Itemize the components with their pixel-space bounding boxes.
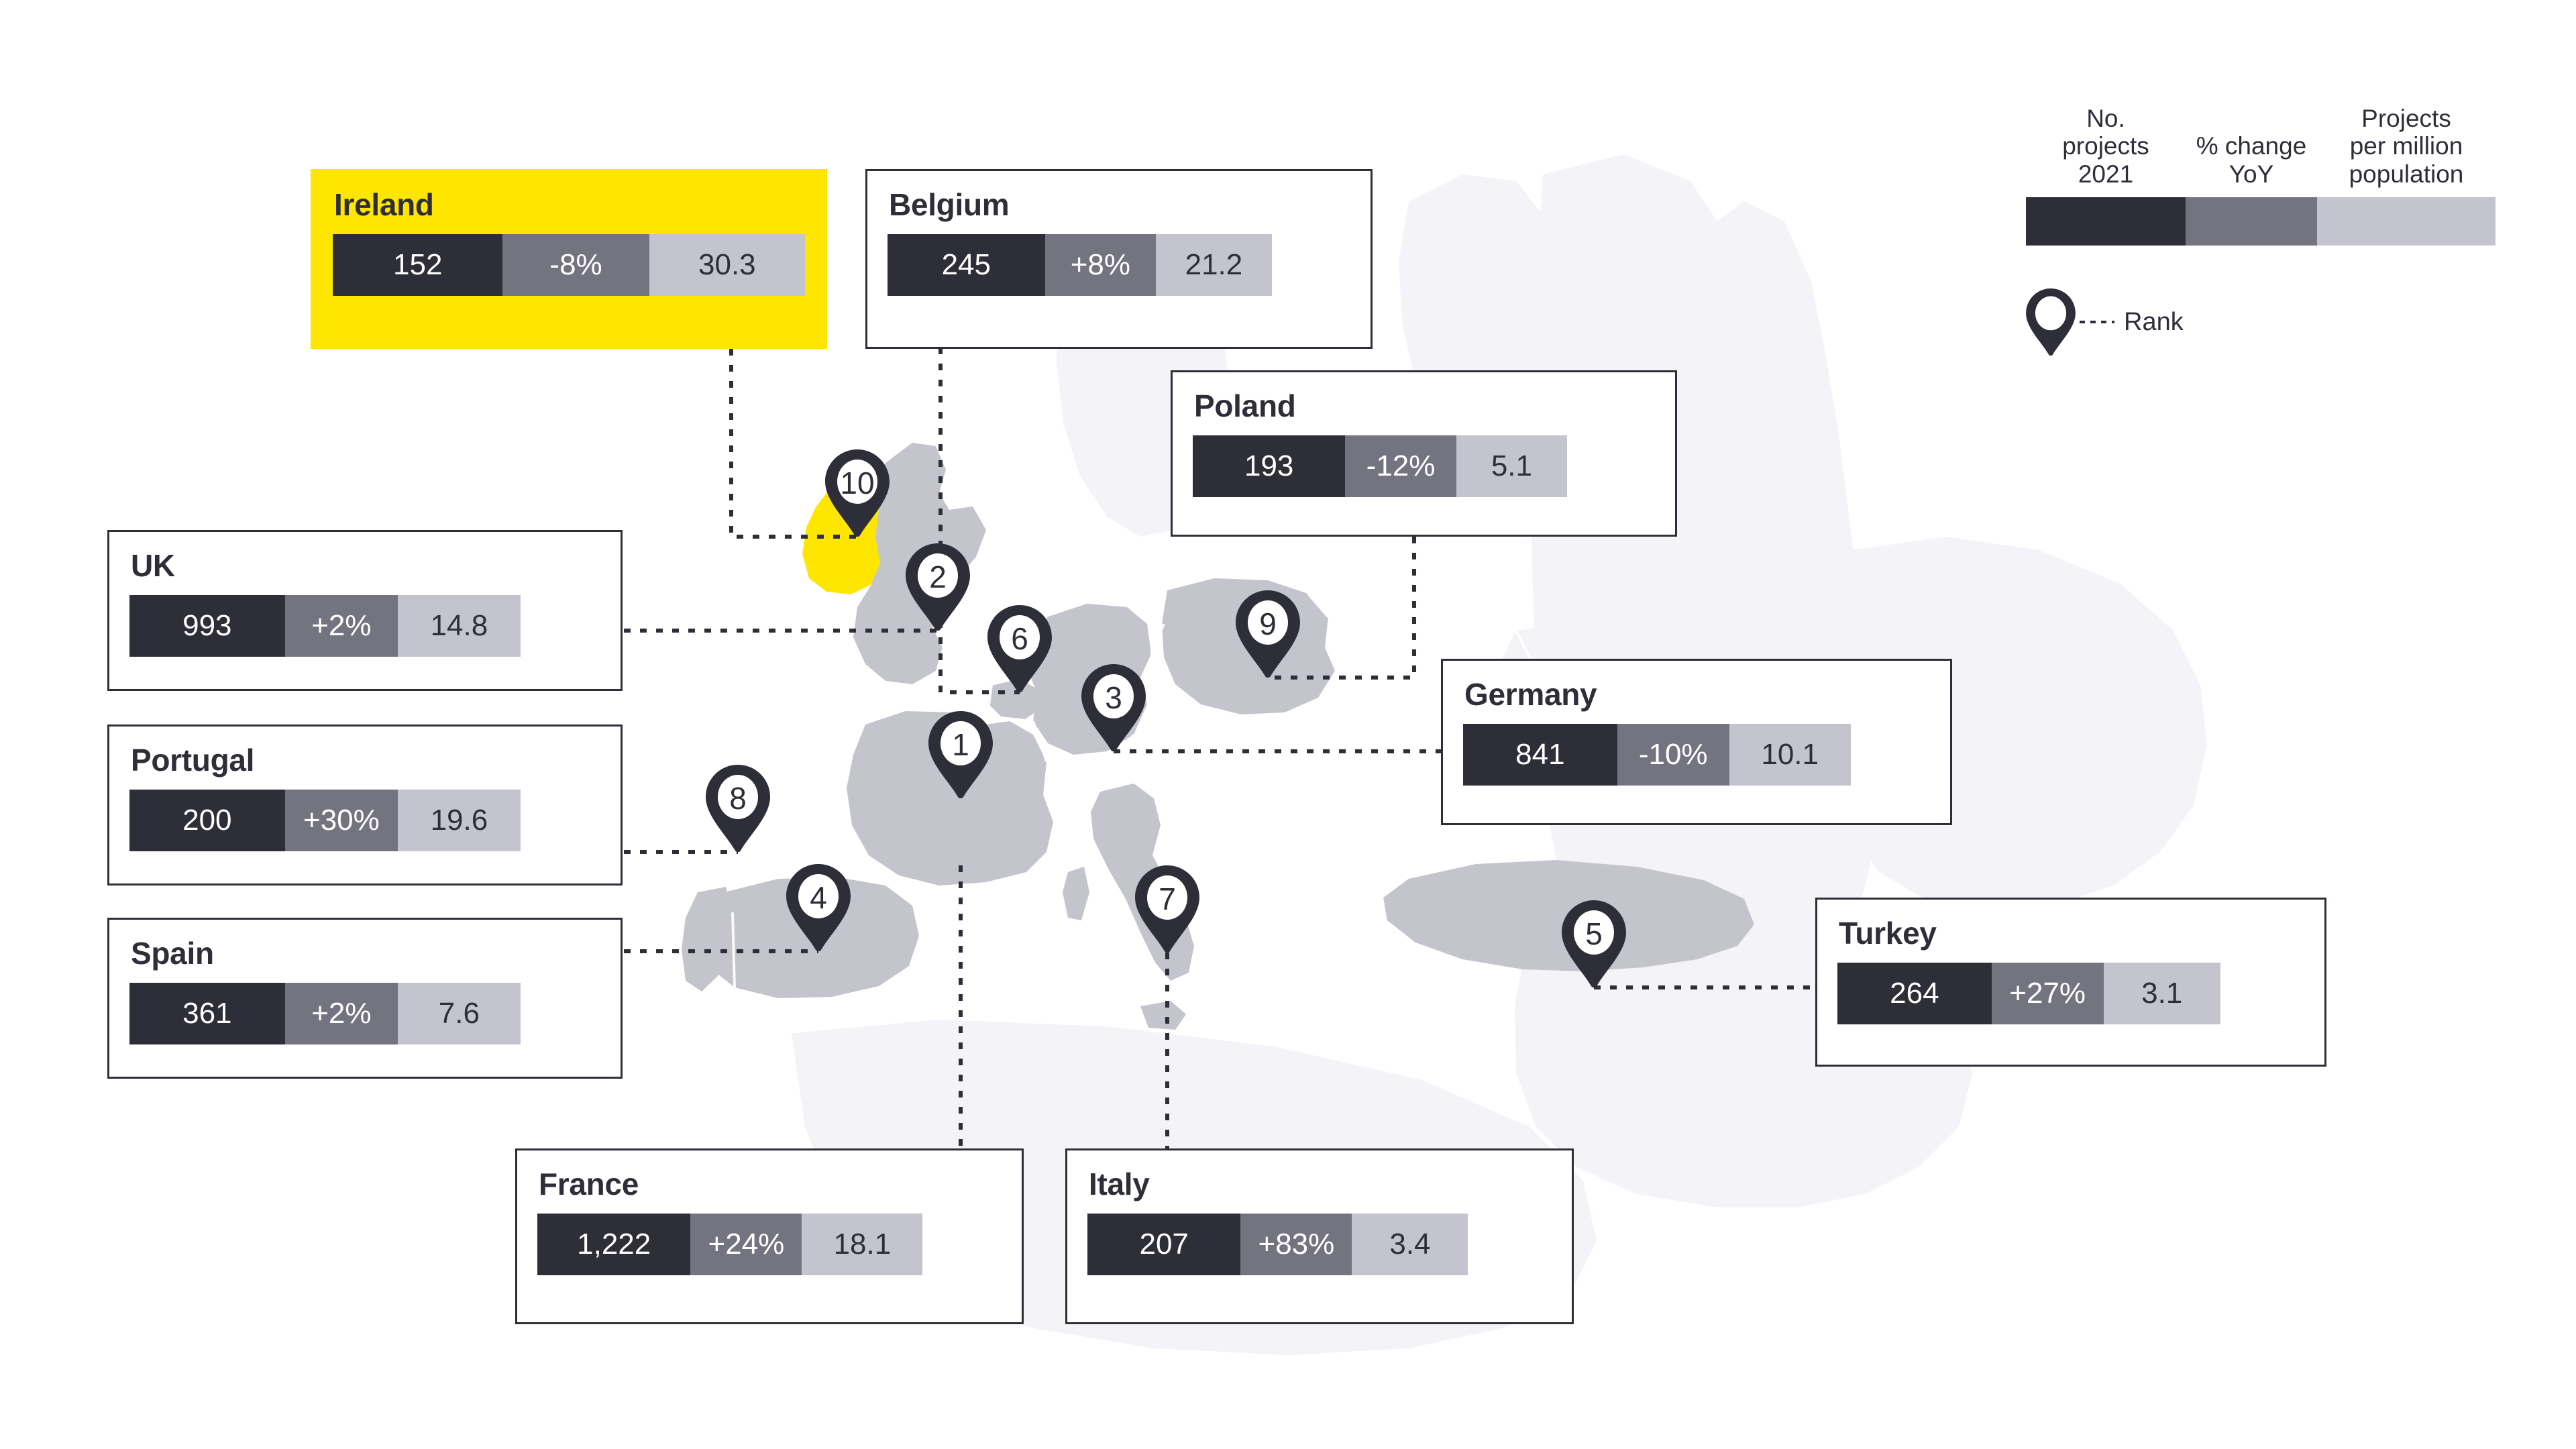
card-title-portugal: Portugal [131,744,600,776]
pin-rank-spain: 4 [786,864,851,934]
metric-per-million-spain: 7.6 [398,983,521,1044]
metric-change-germany: -10% [1617,724,1729,786]
card-belgium[interactable]: Belgium 245 +8% 21.2 [865,169,1373,349]
pin-rank-italy: 7 [1135,865,1199,935]
metric-per-million-poland: 5.1 [1456,435,1567,497]
map-pin-portugal[interactable]: 8 [706,765,770,852]
card-title-belgium: Belgium [889,189,1350,221]
legend-rank-connector [2080,321,2114,323]
pin-rank-uk: 2 [906,543,970,613]
card-italy[interactable]: Italy 207 +83% 3.4 [1065,1148,1574,1324]
metric-per-million-uk: 14.8 [398,595,521,657]
card-portugal[interactable]: Portugal 200 +30% 19.6 [107,724,623,885]
map-pin-uk[interactable]: 2 [906,543,970,631]
metric-projects-germany: 841 [1463,724,1617,786]
metric-change-ireland: -8% [502,234,649,296]
metric-per-million-germany: 10.1 [1729,724,1851,786]
metric-bar-italy: 207 +83% 3.4 [1087,1214,1552,1275]
metric-bar-germany: 841 -10% 10.1 [1463,724,1930,786]
metric-bar-france: 1,222 +24% 18.1 [537,1214,1002,1275]
metric-projects-uk: 993 [129,595,285,657]
map-pin-belgium[interactable]: 6 [987,605,1052,692]
legend-header-no-projects: No. projects 2021 [2026,105,2186,188]
metric-projects-poland: 193 [1193,435,1345,497]
metric-bar-ireland: 152 -8% 30.3 [333,234,805,296]
card-title-germany: Germany [1464,678,1930,710]
legend-swatch-dark [2026,197,2186,246]
metric-projects-spain: 361 [129,983,285,1044]
metric-bar-portugal: 200 +30% 19.6 [129,790,600,851]
metric-change-belgium: +8% [1045,234,1157,296]
map-pin-germany[interactable]: 3 [1081,664,1146,751]
metric-change-portugal: +30% [285,790,398,851]
legend-headers: No. projects 2021 % change YoY Projects … [2026,101,2495,188]
legend-header-projects-per-million: Projects per million population [2317,105,2495,188]
metric-bar-belgium: 245 +8% 21.2 [888,234,1350,296]
pin-rank-ireland: 10 [825,449,890,519]
metric-per-million-italy: 3.4 [1352,1214,1468,1275]
metric-bar-turkey: 264 +27% 3.1 [1837,963,2304,1024]
pin-rank-turkey: 5 [1562,900,1626,970]
metric-bar-poland: 193 -12% 5.1 [1193,435,1655,497]
metric-bar-spain: 361 +2% 7.6 [129,983,600,1044]
country-italy-sardinia [1063,867,1089,920]
legend-swatch-light [2317,197,2495,246]
metric-change-italy: +83% [1240,1214,1352,1275]
map-pin-italy[interactable]: 7 [1135,865,1199,953]
legend-header-pct-change: % change YoY [2186,132,2317,188]
metric-projects-ireland: 152 [333,234,502,296]
metric-per-million-ireland: 30.3 [649,234,805,296]
card-title-italy: Italy [1089,1168,1552,1200]
card-uk[interactable]: UK 993 +2% 14.8 [107,530,623,691]
metric-per-million-turkey: 3.1 [2104,963,2220,1024]
legend: No. projects 2021 % change YoY Projects … [2026,101,2495,246]
card-title-poland: Poland [1194,390,1655,422]
metric-projects-italy: 207 [1087,1214,1240,1275]
metric-change-france: +24% [690,1214,802,1275]
card-ireland[interactable]: Ireland 152 -8% 30.3 [311,169,827,349]
country-italy-sicily [1140,1001,1186,1030]
pin-rank-belgium: 6 [987,605,1052,675]
pin-icon [2026,288,2076,356]
map-pin-spain[interactable]: 4 [786,864,851,951]
legend-swatch-bar [2026,197,2495,246]
metric-change-turkey: +27% [1992,963,2104,1024]
card-title-turkey: Turkey [1839,917,2304,949]
card-title-ireland: Ireland [334,189,805,221]
infographic-map: Ireland 152 -8% 30.3 Belgium 245 +8% 21.… [0,0,2576,1449]
card-title-france: France [539,1168,1002,1200]
map-pin-ireland[interactable]: 10 [825,449,890,537]
legend-rank-label: Rank [2124,309,2184,335]
pin-rank-france: 1 [928,711,993,781]
metric-bar-uk: 993 +2% 14.8 [129,595,600,657]
card-title-uk: UK [131,549,600,582]
metric-per-million-belgium: 21.2 [1156,234,1272,296]
metric-projects-belgium: 245 [888,234,1045,296]
card-germany[interactable]: Germany 841 -10% 10.1 [1441,659,1952,825]
card-turkey[interactable]: Turkey 264 +27% 3.1 [1815,898,2326,1067]
legend-swatch-mid [2186,197,2317,246]
metric-per-million-france: 18.1 [802,1214,922,1275]
metric-per-million-portugal: 19.6 [398,790,521,851]
card-france[interactable]: France 1,222 +24% 18.1 [515,1148,1024,1324]
map-pin-turkey[interactable]: 5 [1562,900,1626,987]
card-spain[interactable]: Spain 361 +2% 7.6 [107,918,623,1079]
metric-change-uk: +2% [285,595,398,657]
metric-projects-france: 1,222 [537,1214,690,1275]
metric-change-spain: +2% [285,983,398,1044]
pin-rank-poland: 9 [1236,590,1300,660]
metric-projects-portugal: 200 [129,790,285,851]
metric-projects-turkey: 264 [1837,963,1992,1024]
map-pin-poland[interactable]: 9 [1236,590,1300,678]
metric-change-poland: -12% [1345,435,1456,497]
card-title-spain: Spain [131,937,600,969]
pin-rank-germany: 3 [1081,664,1146,734]
card-poland[interactable]: Poland 193 -12% 5.1 [1171,370,1677,537]
legend-rank: Rank [2026,288,2184,356]
pin-rank-portugal: 8 [706,765,770,835]
map-pin-france[interactable]: 1 [928,711,993,798]
